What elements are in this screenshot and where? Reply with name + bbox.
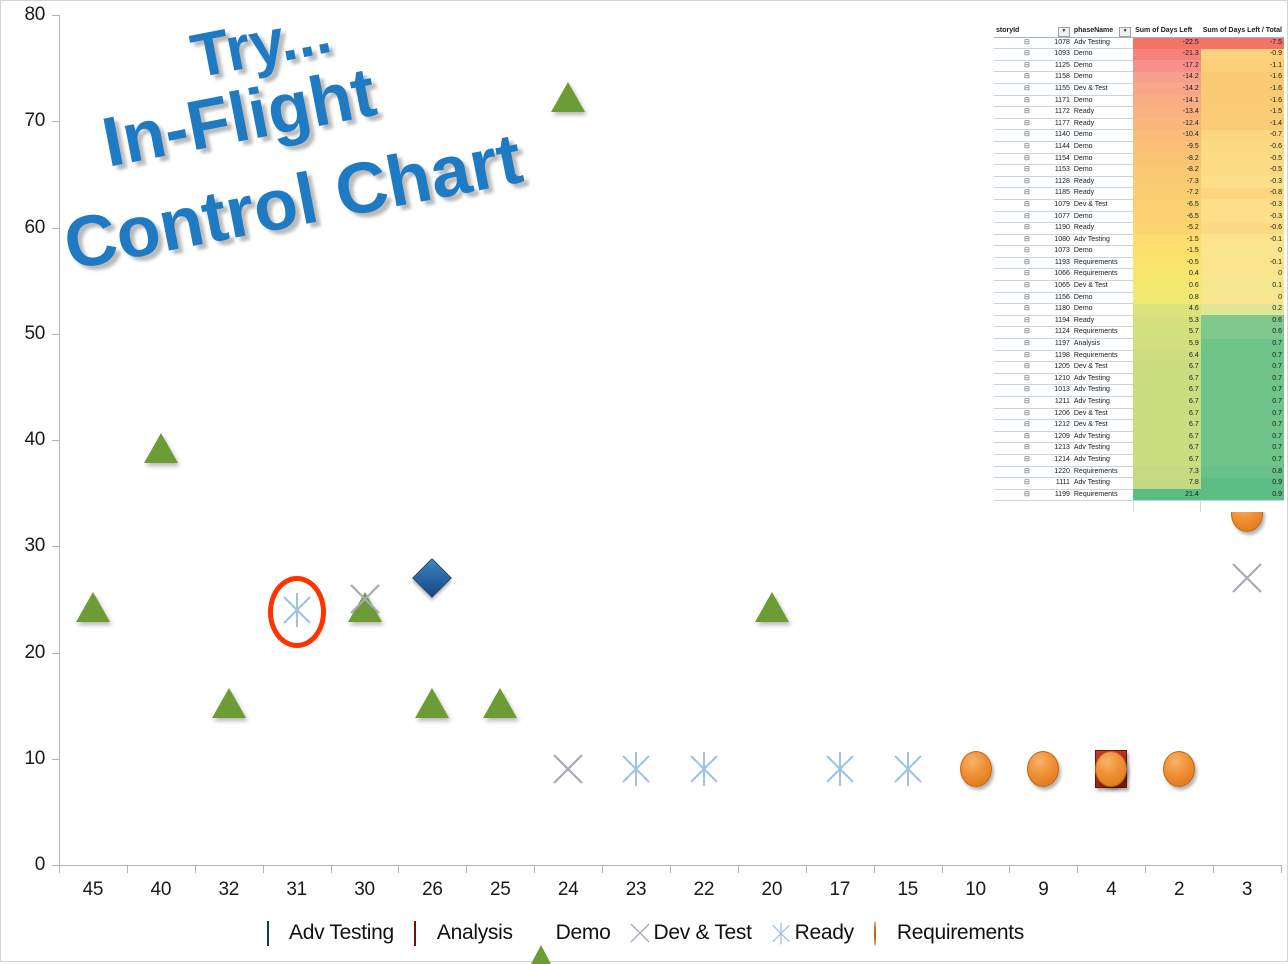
cell-storyid-value: 1211	[1055, 398, 1070, 405]
cell-sum-days-left-total[interactable]: -0.1	[1201, 234, 1284, 246]
row-expander-icon[interactable]: ⊟	[1024, 316, 1030, 327]
data-point-requirements[interactable]	[960, 751, 992, 787]
cell-sum-days-left-total[interactable]: -0.9	[1201, 49, 1284, 61]
cell-storyid-value: 1155	[1055, 85, 1070, 92]
legend-item-ready[interactable]: Ready	[770, 921, 854, 945]
table-row[interactable]: ⊟1080Adv Testing-1.5-0.1	[994, 234, 1284, 246]
cell-phasename[interactable]: Demo	[1072, 60, 1133, 72]
cell-sum-days-left-total[interactable]: 0.6	[1201, 327, 1284, 339]
cell-sum-days-left[interactable]: 6.4	[1133, 350, 1201, 362]
cell-storyid[interactable]: ⊟1124	[994, 327, 1072, 339]
cell-sum-days-left[interactable]: -10.4	[1133, 130, 1201, 142]
cell-sum-days-left-total[interactable]: 0.9	[1201, 478, 1284, 490]
cell-storyid[interactable]: ⊟1140	[994, 130, 1072, 142]
cell-sum-days-left[interactable]: -1.5	[1133, 246, 1201, 258]
cell-storyid[interactable]: ⊟1154	[994, 153, 1072, 165]
cell-phasename[interactable]: Demo	[1072, 153, 1133, 165]
cell-phasename[interactable]: Ready	[1072, 107, 1133, 119]
table-row[interactable]: ⊟1177Ready-12.4-1.4	[994, 118, 1284, 130]
data-point-requirements[interactable]	[1163, 751, 1195, 787]
table-row[interactable]: ⊟1093Demo-21.3-0.9	[994, 49, 1284, 61]
cell-sum-days-left[interactable]: 6.7	[1133, 373, 1201, 385]
row-expander-icon[interactable]: ⊟	[1024, 420, 1030, 431]
cell-phasename[interactable]: Dev & Test	[1072, 408, 1133, 420]
table-row[interactable]: ⊟1144Demo-9.5-0.6	[994, 141, 1284, 153]
cell-sum-days-left-total[interactable]: -0.1	[1201, 257, 1284, 269]
cell-storyid[interactable]: ⊟1190	[994, 223, 1072, 235]
cell-sum-days-left[interactable]: -14.1	[1133, 95, 1201, 107]
table-row[interactable]: ⊟1180Demo4.60.2	[994, 304, 1284, 316]
table-row[interactable]: ⊟1078Adv Testing-22.5-7.5	[994, 37, 1284, 49]
cell-sum-days-left-total[interactable]: -0.6	[1201, 223, 1284, 235]
cell-sum-days-left[interactable]: 5.9	[1133, 339, 1201, 351]
cell-sum-days-left[interactable]: -9.5	[1133, 141, 1201, 153]
row-expander-icon[interactable]: ⊟	[1024, 258, 1030, 269]
row-expander-icon[interactable]: ⊟	[1024, 351, 1030, 362]
x-tick-label: 45	[83, 879, 104, 901]
row-expander-icon[interactable]: ⊟	[1024, 200, 1030, 211]
table-row[interactable]: ⊟1124Requirements5.70.6	[994, 327, 1284, 339]
pivot-table[interactable]: storyId ▼ phaseName ▼ Sum of Days Left S…	[994, 26, 1284, 512]
row-expander-icon[interactable]: ⊟	[1024, 490, 1030, 501]
cell-storyid[interactable]: ⊟1080	[994, 234, 1072, 246]
cell-phasename[interactable]: Requirements	[1072, 489, 1133, 501]
cell-storyid[interactable]: ⊟1220	[994, 466, 1072, 478]
cell-phasename[interactable]: Adv Testing	[1072, 443, 1133, 455]
row-expander-icon[interactable]: ⊟	[1024, 293, 1030, 304]
cell-phasename[interactable]: Adv Testing	[1072, 37, 1133, 49]
x-tick-label: 17	[829, 879, 850, 901]
cell-phasename[interactable]: Demo	[1072, 95, 1133, 107]
cell-sum-days-left-total[interactable]: -1.6	[1201, 95, 1284, 107]
cell-storyid[interactable]: ⊟1198	[994, 350, 1072, 362]
cell-sum-days-left[interactable]: -22.5	[1133, 37, 1201, 49]
cell-sum-days-left[interactable]: 5.7	[1133, 327, 1201, 339]
cell-sum-days-left-total[interactable]: -0.5	[1201, 153, 1284, 165]
legend-item-adv-testing[interactable]: Adv Testing	[264, 921, 394, 945]
table-row[interactable]: ⊟1206Dev & Test6.70.7	[994, 408, 1284, 420]
cell-storyid[interactable]: ⊟1210	[994, 373, 1072, 385]
row-expander-icon[interactable]: ⊟	[1024, 72, 1030, 83]
row-expander-icon[interactable]: ⊟	[1024, 455, 1030, 466]
cell-storyid[interactable]: ⊟1158	[994, 72, 1072, 84]
cell-sum-days-left-total[interactable]: 0	[1201, 246, 1284, 258]
header-sum-days-left[interactable]: Sum of Days Left	[1133, 26, 1201, 37]
table-row[interactable]: ⊟1013Adv Testing6.70.7	[994, 385, 1284, 397]
circle-marker-icon	[872, 922, 894, 944]
cell-sum-days-left[interactable]: 6.7	[1133, 397, 1201, 409]
table-row[interactable]: ⊟1205Dev & Test6.70.7	[994, 362, 1284, 374]
cell-storyid[interactable]: ⊟1153	[994, 165, 1072, 177]
cell-sum-days-left-total[interactable]: 0.7	[1201, 350, 1284, 362]
cell-phasename[interactable]: Adv Testing	[1072, 373, 1133, 385]
cell-phasename[interactable]: Demo	[1072, 246, 1133, 258]
cell-storyid-value: 1125	[1055, 62, 1070, 69]
cell-storyid[interactable]: ⊟1213	[994, 443, 1072, 455]
cell-storyid[interactable]: ⊟1185	[994, 188, 1072, 200]
row-expander-icon[interactable]: ⊟	[1024, 432, 1030, 443]
row-expander-icon[interactable]: ⊟	[1024, 478, 1030, 489]
cell-phasename[interactable]: Demo	[1072, 72, 1133, 84]
cell-storyid[interactable]: ⊟1144	[994, 141, 1072, 153]
table-row[interactable]: ⊟1155Dev & Test-14.2-1.6	[994, 83, 1284, 95]
cell-storyid[interactable]: ⊟1177	[994, 118, 1072, 130]
cell-phasename[interactable]: Adv Testing	[1072, 431, 1133, 443]
cell-sum-days-left[interactable]: -7.2	[1133, 188, 1201, 200]
cell-sum-days-left-total[interactable]: 0.2	[1201, 304, 1284, 316]
cell-sum-days-left[interactable]: 0.8	[1133, 292, 1201, 304]
cell-sum-days-left-total[interactable]: -1.5	[1201, 107, 1284, 119]
row-expander-icon[interactable]: ⊟	[1024, 154, 1030, 165]
data-point-ready[interactable]	[891, 751, 925, 787]
cell-storyid[interactable]: ⊟1199	[994, 489, 1072, 501]
table-row[interactable]: ⊟1190Ready-5.2-0.6	[994, 223, 1284, 235]
x-tick-label: 9	[1038, 879, 1048, 901]
cell-sum-days-left-total[interactable]: -0.5	[1201, 165, 1284, 177]
cell-sum-days-left[interactable]: 6.7	[1133, 408, 1201, 420]
table-row[interactable]: ⊟1111Adv Testing7.80.9	[994, 478, 1284, 490]
cell-phasename[interactable]: Requirements	[1072, 466, 1133, 478]
table-row[interactable]: ⊟1214Adv Testing6.70.7	[994, 454, 1284, 466]
cell-sum-days-left-total[interactable]: 0.7	[1201, 443, 1284, 455]
data-point-demo[interactable]	[483, 688, 517, 718]
row-expander-icon[interactable]: ⊟	[1024, 327, 1030, 338]
table-row[interactable]: ⊟1211Adv Testing6.70.7	[994, 397, 1284, 409]
table-row[interactable]: ⊟1079Dev & Test-6.5-0.3	[994, 199, 1284, 211]
cell-storyid[interactable]: ⊟1197	[994, 339, 1072, 351]
cell-phasename[interactable]: Analysis	[1072, 339, 1133, 351]
table-row[interactable]: ⊟1194Ready5.30.6	[994, 315, 1284, 327]
cell-sum-days-left-total[interactable]: 0.7	[1201, 362, 1284, 374]
cell-sum-days-left[interactable]: 5.3	[1133, 315, 1201, 327]
x-tick-label: 3	[1242, 879, 1252, 901]
data-point-dev-test[interactable]	[551, 752, 585, 786]
cell-sum-days-left[interactable]: -1.5	[1133, 234, 1201, 246]
cell-storyid[interactable]: ⊟1079	[994, 199, 1072, 211]
cell-storyid-value: 1153	[1055, 166, 1070, 173]
table-row[interactable]: ⊟1212Dev & Test6.70.7	[994, 420, 1284, 432]
cell-sum-days-left-total[interactable]: 0	[1201, 269, 1284, 281]
cell-storyid[interactable]: ⊟1214	[994, 454, 1072, 466]
legend-item-analysis[interactable]: Analysis	[412, 921, 513, 945]
cell-sum-days-left-total[interactable]: -0.8	[1201, 188, 1284, 200]
cell-sum-days-left-total[interactable]: -0.3	[1201, 199, 1284, 211]
cell-storyid[interactable]: ⊟1180	[994, 304, 1072, 316]
cell-storyid-value: 1212	[1054, 421, 1070, 428]
x-tick-label: 20	[762, 879, 783, 901]
cell-sum-days-left-total[interactable]: 0.7	[1201, 385, 1284, 397]
table-row[interactable]: ⊟1077Demo-6.5-0.3	[994, 211, 1284, 223]
cell-storyid[interactable]: ⊟1093	[994, 49, 1072, 61]
cell-storyid[interactable]: ⊟1066	[994, 269, 1072, 281]
cell-sum-days-left-total[interactable]: 0.9	[1201, 489, 1284, 501]
x-tick-label: 26	[422, 879, 443, 901]
cell-storyid-value: 1210	[1054, 375, 1070, 382]
row-expander-icon[interactable]: ⊟	[1024, 246, 1030, 257]
cell-sum-days-left[interactable]: -5.2	[1133, 223, 1201, 235]
cell-sum-days-left[interactable]: -6.5	[1133, 199, 1201, 211]
legend-item-demo[interactable]: Demo	[531, 921, 611, 945]
cell-sum-days-left-total[interactable]: -1.6	[1201, 72, 1284, 84]
data-point-demo[interactable]	[415, 688, 449, 718]
cell-sum-days-left[interactable]: -12.4	[1133, 118, 1201, 130]
cell-phasename[interactable]: Ready	[1072, 188, 1133, 200]
cell-sum-days-left-total[interactable]: -0.7	[1201, 130, 1284, 142]
table-row[interactable]: ⊟1199Requirements21.40.9	[994, 489, 1284, 501]
data-point-demo[interactable]	[144, 433, 178, 463]
cell-sum-days-left-total[interactable]: 0	[1201, 292, 1284, 304]
cell-sum-days-left[interactable]: -8.2	[1133, 153, 1201, 165]
cell-storyid-value: 1073	[1054, 247, 1070, 254]
cell-sum-days-left[interactable]: 4.6	[1133, 304, 1201, 316]
cell-sum-days-left-total[interactable]: 0.7	[1201, 431, 1284, 443]
cell-phasename[interactable]: Adv Testing	[1072, 234, 1133, 246]
row-expander-icon[interactable]: ⊟	[1024, 374, 1030, 385]
cell-sum-days-left[interactable]: 7.8	[1133, 478, 1201, 490]
cell-sum-days-left[interactable]: 6.7	[1133, 431, 1201, 443]
cell-phasename[interactable]: Demo	[1072, 141, 1133, 153]
cell-storyid[interactable]: ⊟1193	[994, 257, 1072, 269]
cell-sum-days-left-total[interactable]: -1.6	[1201, 83, 1284, 95]
row-expander-icon[interactable]: ⊟	[1024, 443, 1030, 454]
table-row[interactable]: ⊟1125Demo-17.2-1.1	[994, 60, 1284, 72]
filter-dropdown-storyid-icon[interactable]: ▼	[1058, 27, 1070, 37]
data-point-ready[interactable]	[823, 751, 857, 787]
cell-phasename[interactable]: Dev & Test	[1072, 420, 1133, 432]
cell-sum-days-left[interactable]: 6.7	[1133, 385, 1201, 397]
cell-storyid-value: 1180	[1055, 305, 1070, 312]
cell-sum-days-left[interactable]: -6.5	[1133, 211, 1201, 223]
table-row[interactable]: ⊟1153Demo-8.2-0.5	[994, 165, 1284, 177]
row-expander-icon[interactable]: ⊟	[1024, 409, 1030, 420]
data-point-dev-test[interactable]	[348, 582, 382, 616]
data-point-ready[interactable]	[619, 751, 653, 787]
row-expander-icon[interactable]: ⊟	[1024, 362, 1030, 373]
cell-sum-days-left[interactable]: 0.4	[1133, 269, 1201, 281]
table-row[interactable]: ⊟1220Requirements7.30.8	[994, 466, 1284, 478]
y-axis-line	[59, 15, 60, 865]
table-row[interactable]: ⊟1156Demo0.80	[994, 292, 1284, 304]
cell-phasename[interactable]: Dev & Test	[1072, 362, 1133, 374]
row-expander-icon[interactable]: ⊟	[1024, 304, 1030, 315]
cell-storyid[interactable]: ⊟1077	[994, 211, 1072, 223]
cell-sum-days-left-total[interactable]: 0.7	[1201, 339, 1284, 351]
cell-storyid[interactable]: ⊟1065	[994, 281, 1072, 293]
cell-sum-days-left[interactable]: 6.7	[1133, 362, 1201, 374]
cell-phasename[interactable]: Dev & Test	[1072, 83, 1133, 95]
data-point-demo[interactable]	[551, 82, 585, 112]
cell-phasename[interactable]: Demo	[1072, 130, 1133, 142]
header-phasename[interactable]: phaseName ▼	[1072, 26, 1133, 37]
table-row[interactable]: ⊟1213Adv Testing6.70.7	[994, 443, 1284, 455]
cell-sum-days-left[interactable]: -21.3	[1133, 49, 1201, 61]
table-row[interactable]: ⊟1197Analysis5.90.7	[994, 339, 1284, 351]
table-row[interactable]: ⊟1193Requirements-0.5-0.1	[994, 257, 1284, 269]
cell-sum-days-left[interactable]: -14.2	[1133, 72, 1201, 84]
cell-phasename[interactable]: Demo	[1072, 292, 1133, 304]
cell-storyid[interactable]: ⊟1111	[994, 478, 1072, 490]
data-point-demo[interactable]	[755, 592, 789, 622]
row-expander-icon[interactable]: ⊟	[1024, 212, 1030, 223]
table-row[interactable]: ⊟1158Demo-14.2-1.6	[994, 72, 1284, 84]
cell-phasename[interactable]: Adv Testing	[1072, 478, 1133, 490]
cell-sum-days-left[interactable]: 21.4	[1133, 489, 1201, 501]
row-expander-icon[interactable]: ⊟	[1024, 339, 1030, 350]
cell-storyid[interactable]: ⊟1172	[994, 107, 1072, 119]
cell-storyid[interactable]: ⊟1128	[994, 176, 1072, 188]
cell-phasename[interactable]: Demo	[1072, 49, 1133, 61]
y-tick-label: 40	[0, 429, 45, 451]
cell-sum-days-left-total[interactable]: -1.1	[1201, 60, 1284, 72]
cell-storyid[interactable]: ⊟1171	[994, 95, 1072, 107]
cell-phasename[interactable]: Ready	[1072, 176, 1133, 188]
cell-phasename[interactable]: Adv Testing	[1072, 454, 1133, 466]
row-expander-icon[interactable]: ⊟	[1024, 165, 1030, 176]
cell-sum-days-left[interactable]: -0.5	[1133, 257, 1201, 269]
cell-storyid-value: 1205	[1054, 363, 1070, 370]
cell-phasename[interactable]: Requirements	[1072, 257, 1133, 269]
row-expander-icon[interactable]: ⊟	[1024, 84, 1030, 95]
data-point-dev-test[interactable]	[1230, 561, 1264, 595]
cell-storyid-value: 1078	[1054, 39, 1070, 46]
table-row[interactable]: ⊟1210Adv Testing6.70.7	[994, 373, 1284, 385]
table-row[interactable]: ⊟1185Ready-7.2-0.8	[994, 188, 1284, 200]
x-tick-label: 22	[694, 879, 715, 901]
table-row[interactable]: ⊟1209Adv Testing6.70.7	[994, 431, 1284, 443]
cell-phasename[interactable]: Demo	[1072, 304, 1133, 316]
table-row[interactable]: ⊟1128Ready-7.3-0.3	[994, 176, 1284, 188]
row-expander-icon[interactable]: ⊟	[1024, 119, 1030, 130]
header-phasename-label: phaseName	[1074, 27, 1113, 34]
data-point-ready[interactable]	[687, 751, 721, 787]
filter-dropdown-phasename-icon[interactable]: ▼	[1119, 27, 1131, 37]
row-expander-icon[interactable]: ⊟	[1024, 107, 1030, 118]
cell-sum-days-left-total[interactable]: 0.1	[1201, 281, 1284, 293]
table-row[interactable]: ⊟1198Requirements6.40.7	[994, 350, 1284, 362]
y-tick-label: 20	[0, 642, 45, 664]
cell-storyid[interactable]: ⊟1209	[994, 431, 1072, 443]
row-expander-icon[interactable]: ⊟	[1024, 385, 1030, 396]
row-expander-icon[interactable]: ⊟	[1024, 177, 1030, 188]
cell-phasename[interactable]: Ready	[1072, 315, 1133, 327]
cell-phasename[interactable]: Ready	[1072, 223, 1133, 235]
cell-sum-days-left-total[interactable]: -0.6	[1201, 141, 1284, 153]
row-expander-icon[interactable]: ⊟	[1024, 96, 1030, 107]
row-expander-icon[interactable]: ⊟	[1024, 49, 1030, 60]
cell-sum-days-left-total[interactable]: 0.7	[1201, 408, 1284, 420]
cell-sum-days-left[interactable]: -8.2	[1133, 165, 1201, 177]
cell-phasename[interactable]: Adv Testing	[1072, 385, 1133, 397]
cell-storyid[interactable]: ⊟1073	[994, 246, 1072, 258]
cell-sum-days-left[interactable]: 0.6	[1133, 281, 1201, 293]
cell-sum-days-left-total[interactable]: 0.7	[1201, 454, 1284, 466]
header-sum-days-left-total[interactable]: Sum of Days Left / Total	[1201, 26, 1284, 37]
cell-storyid[interactable]: ⊟1206	[994, 408, 1072, 420]
row-expander-icon[interactable]: ⊟	[1024, 130, 1030, 141]
cell-phasename[interactable]: Demo	[1072, 165, 1133, 177]
data-point-demo[interactable]	[212, 688, 246, 718]
cell-sum-days-left-total[interactable]: 0.8	[1201, 466, 1284, 478]
row-expander-icon[interactable]: ⊟	[1024, 235, 1030, 246]
cell-sum-days-left-total[interactable]: -0.3	[1201, 176, 1284, 188]
table-row[interactable]: ⊟1073Demo-1.50	[994, 246, 1284, 258]
cell-sum-days-left[interactable]: -7.3	[1133, 176, 1201, 188]
cell-phasename[interactable]: Dev & Test	[1072, 281, 1133, 293]
cell-phasename[interactable]: Dev & Test	[1072, 199, 1133, 211]
cell-storyid-value: 1093	[1054, 50, 1070, 57]
cell-sum-days-left-total[interactable]: -0.3	[1201, 211, 1284, 223]
data-point-requirements[interactable]	[1027, 751, 1059, 787]
cell-storyid[interactable]: ⊟1013	[994, 385, 1072, 397]
cell-phasename[interactable]: Demo	[1072, 211, 1133, 223]
cell-sum-days-left-total[interactable]: 0.7	[1201, 420, 1284, 432]
cell-phasename[interactable]: Ready	[1072, 118, 1133, 130]
table-row[interactable]: ⊟1171Demo-14.1-1.6	[994, 95, 1284, 107]
row-expander-icon[interactable]: ⊟	[1024, 188, 1030, 199]
row-expander-icon[interactable]: ⊟	[1024, 38, 1030, 49]
y-tick-label: 30	[0, 535, 45, 557]
cell-storyid-value: 1124	[1055, 328, 1070, 335]
cell-sum-days-left-total[interactable]: 0.7	[1201, 397, 1284, 409]
data-point-demo[interactable]	[76, 592, 110, 622]
row-expander-icon[interactable]: ⊟	[1024, 397, 1030, 408]
cell-sum-days-left[interactable]: 6.7	[1133, 420, 1201, 432]
legend-item-requirements[interactable]: Requirements	[872, 921, 1024, 945]
data-point-requirements[interactable]	[1095, 751, 1127, 787]
table-row[interactable]: ⊟1154Demo-8.2-0.5	[994, 153, 1284, 165]
cell-sum-days-left[interactable]: 6.7	[1133, 454, 1201, 466]
cell-sum-days-left[interactable]: -13.4	[1133, 107, 1201, 119]
row-expander-icon[interactable]: ⊟	[1024, 223, 1030, 234]
cell-phasename[interactable]: Requirements	[1072, 327, 1133, 339]
row-expander-icon[interactable]: ⊟	[1024, 142, 1030, 153]
cell-storyid[interactable]: ⊟1078	[994, 37, 1072, 49]
cell-sum-days-left[interactable]: -14.2	[1133, 83, 1201, 95]
cell-phasename[interactable]: Adv Testing	[1072, 397, 1133, 409]
cell-storyid[interactable]: ⊟1155	[994, 83, 1072, 95]
legend-item-dev-test[interactable]: Dev & Test	[629, 921, 752, 945]
cell-storyid[interactable]: ⊟1211	[994, 397, 1072, 409]
row-expander-icon[interactable]: ⊟	[1024, 269, 1030, 280]
cell-storyid[interactable]: ⊟1205	[994, 362, 1072, 374]
cell-storyid[interactable]: ⊟1212	[994, 420, 1072, 432]
row-expander-icon[interactable]: ⊟	[1024, 467, 1030, 478]
cell-sum-days-left[interactable]: 6.7	[1133, 443, 1201, 455]
cell-sum-days-left[interactable]: -17.2	[1133, 60, 1201, 72]
cell-sum-days-left-total[interactable]: 0.7	[1201, 373, 1284, 385]
x-tick-mark	[534, 865, 535, 873]
row-expander-icon[interactable]: ⊟	[1024, 281, 1030, 292]
cell-sum-days-left-total[interactable]: -7.5	[1201, 37, 1284, 49]
header-storyid[interactable]: storyId ▼	[994, 26, 1072, 37]
cell-sum-days-left[interactable]: 7.3	[1133, 466, 1201, 478]
cell-phasename[interactable]: Requirements	[1072, 350, 1133, 362]
y-tick-label: 80	[0, 4, 45, 26]
cell-storyid[interactable]: ⊟1125	[994, 60, 1072, 72]
cell-phasename[interactable]: Requirements	[1072, 269, 1133, 281]
cell-storyid[interactable]: ⊟1156	[994, 292, 1072, 304]
cell-storyid-value: 1177	[1055, 120, 1070, 127]
cell-sum-days-left-total[interactable]: -1.4	[1201, 118, 1284, 130]
table-row[interactable]: ⊟1066Requirements0.40	[994, 269, 1284, 281]
table-row[interactable]: ⊟1140Demo-10.4-0.7	[994, 130, 1284, 142]
x-tick-label: 24	[558, 879, 579, 901]
cell-sum-days-left-total[interactable]: 0.6	[1201, 315, 1284, 327]
row-expander-icon[interactable]: ⊟	[1024, 61, 1030, 72]
cell-storyid[interactable]: ⊟1194	[994, 315, 1072, 327]
table-row[interactable]: ⊟1172Ready-13.4-1.5	[994, 107, 1284, 119]
table-row[interactable]: ⊟1065Dev & Test0.60.1	[994, 281, 1284, 293]
